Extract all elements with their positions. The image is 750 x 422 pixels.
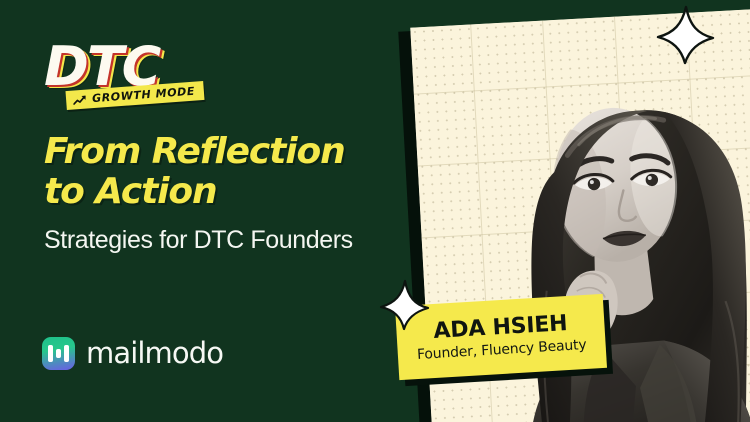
subheadline: Strategies for DTC Founders [44,226,444,255]
headline-line-1: From Reflection [44,132,424,172]
mailmodo-logo: mailmodo [42,337,223,370]
headline: From Reflection to Action [44,132,424,213]
dtc-growth-mode-logo: DTC GROWTH MODE [44,42,224,118]
four-point-star-icon [654,4,716,66]
trending-up-arrow-icon [73,94,89,105]
mailmodo-wordmark: mailmodo [86,339,223,368]
headline-line-2: to Action [44,172,424,212]
mailmodo-bars-icon [42,337,75,370]
four-point-star-icon [377,278,431,332]
growth-mode-label: GROWTH MODE [92,85,196,106]
webinar-promo-card: DTC GROWTH MODE From Reflection to Actio… [0,0,750,422]
